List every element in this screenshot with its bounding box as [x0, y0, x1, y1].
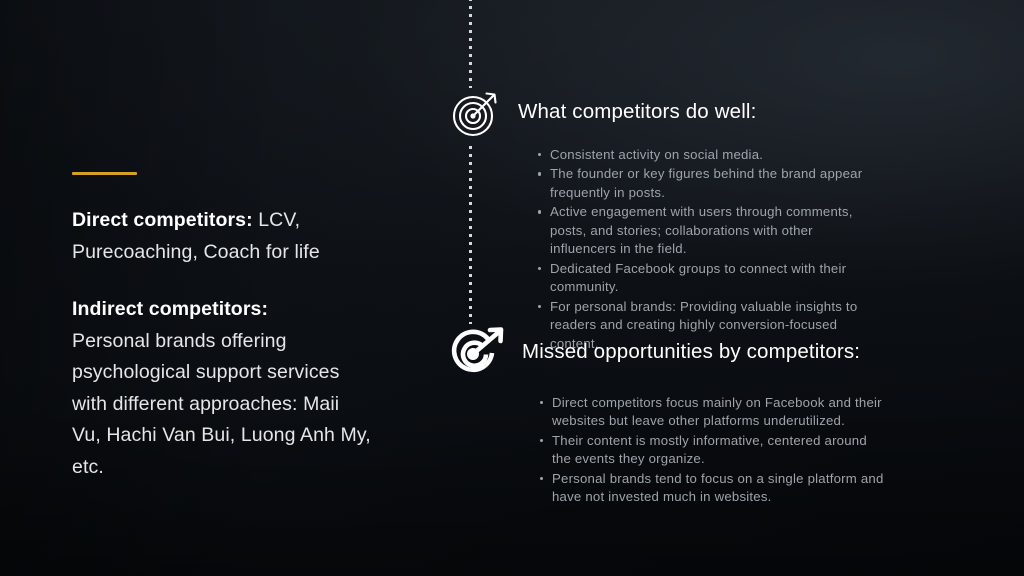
- list-item: The founder or key figures behind the br…: [538, 165, 878, 202]
- section-what-competitors-do-well: What competitors do well: Consistent act…: [448, 84, 878, 354]
- section-missed-opportunities: Missed opportunities by competitors: Dir…: [448, 326, 888, 508]
- indirect-competitors-value: Personal brands offering psychological s…: [72, 330, 371, 478]
- direct-competitors-label: Direct competitors:: [72, 209, 253, 231]
- target-arrow-icon: [448, 84, 504, 140]
- direct-competitors-block: Direct competitors: LCV, Purecoaching, C…: [72, 205, 372, 268]
- list-item: Dedicated Facebook groups to connect wit…: [538, 260, 878, 297]
- indirect-competitors-label: Indirect competitors:: [72, 294, 372, 326]
- accent-rule-divider: [72, 172, 137, 175]
- list-item: Their content is mostly informative, cen…: [540, 432, 888, 469]
- list-item: Personal brands tend to focus on a singl…: [540, 470, 888, 507]
- list-item: Consistent activity on social media.: [538, 146, 878, 164]
- list-item: Active engagement with users through com…: [538, 203, 878, 258]
- section-one-header: What competitors do well:: [448, 84, 878, 140]
- timeline-dotted-line-top: [469, 0, 472, 88]
- target-arrow-bold-icon: [448, 326, 508, 378]
- section-two-title: Missed opportunities by competitors:: [522, 340, 860, 364]
- section-two-bullet-list: Direct competitors focus mainly on Faceb…: [448, 394, 888, 507]
- section-two-header: Missed opportunities by competitors:: [448, 326, 888, 378]
- section-one-title: What competitors do well:: [518, 100, 756, 124]
- slide-canvas: Direct competitors: LCV, Purecoaching, C…: [0, 0, 1024, 576]
- section-one-bullet-list: Consistent activity on social media. The…: [448, 146, 878, 353]
- indirect-competitors-block: Indirect competitors:Personal brands off…: [72, 294, 372, 483]
- left-text-panel: Direct competitors: LCV, Purecoaching, C…: [72, 172, 372, 484]
- list-item: Direct competitors focus mainly on Faceb…: [540, 394, 888, 431]
